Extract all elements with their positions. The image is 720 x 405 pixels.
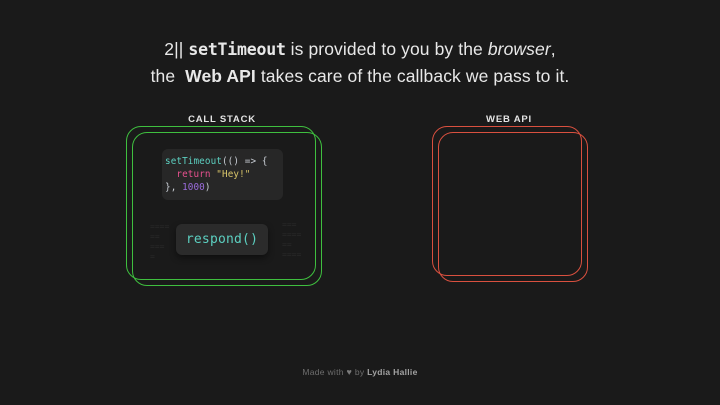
code-token-brace-close: }, [165, 182, 182, 193]
code-token-paren-close: ) [205, 182, 211, 193]
web-api-border-inner [438, 132, 588, 282]
stack-frame-respond-label: respond() [186, 232, 258, 247]
title-text-after-code: is provided to you by the [286, 39, 488, 59]
footer-by: by [355, 367, 365, 377]
code-block: setTimeout(() => { return "Hey!" }, 1000… [162, 149, 283, 200]
footer-author: Lydia Hallie [367, 367, 418, 377]
page-title: 2|| setTimeout is provided to you by the… [0, 36, 720, 90]
footer-made-with: Made with [302, 367, 343, 377]
code-token-number: 1000 [182, 182, 205, 193]
slide-canvas: 2|| setTimeout is provided to you by the… [0, 0, 720, 405]
title-emphasis-browser: browser [488, 39, 551, 59]
code-token-function: setTimeout [165, 156, 222, 167]
code-indent [165, 169, 176, 180]
title-line2-start: the [151, 66, 181, 86]
title-line2-end: takes care of the callback we pass to it… [256, 66, 570, 86]
stack-frame-respond: respond() [176, 224, 268, 255]
step-number: 2 [164, 39, 174, 59]
code-token-keyword-return: return [176, 169, 210, 180]
code-token-string: "Hey!" [216, 169, 250, 180]
heart-icon: ♥ [347, 367, 353, 377]
code-token-arrow: ) => { [233, 156, 267, 167]
call-stack-label: CALL STACK [147, 114, 297, 125]
code-token-paren-open: (( [222, 156, 233, 167]
web-api-label: WEB API [434, 114, 584, 125]
web-api-panel [432, 126, 588, 282]
title-code-term: setTimeout [188, 40, 285, 59]
title-line1-end: , [551, 39, 556, 59]
title-separator: || [174, 39, 183, 59]
title-emphasis-webapi: Web API [185, 66, 256, 86]
footer-credit: Made with ♥ by Lydia Hallie [0, 367, 720, 377]
